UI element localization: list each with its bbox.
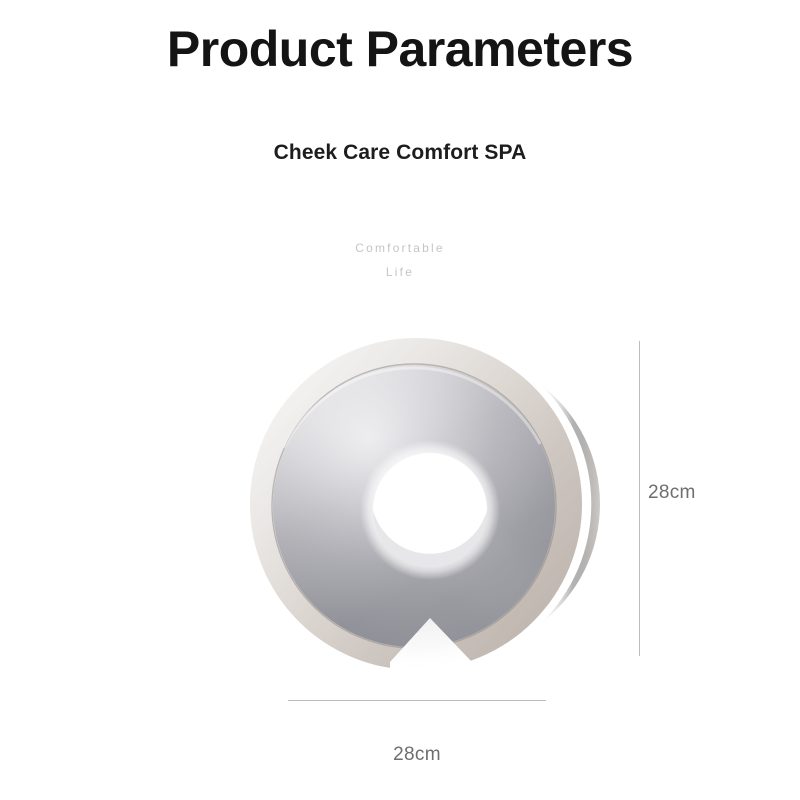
page-title: Product Parameters <box>0 18 800 80</box>
height-dimension-label: 28cm <box>648 481 696 505</box>
tagline-line-2: Life <box>0 262 800 282</box>
page-subtitle: Cheek Care Comfort SPA <box>0 138 800 168</box>
height-dimension-line <box>639 341 640 656</box>
width-dimension-line <box>288 700 546 701</box>
product-image <box>240 322 612 684</box>
product-parameters-page: Product Parameters Cheek Care Comfort SP… <box>0 0 800 800</box>
width-dimension-label: 28cm <box>288 743 546 767</box>
tagline-line-1: Comfortable <box>0 238 800 258</box>
product-illustration <box>240 322 612 684</box>
